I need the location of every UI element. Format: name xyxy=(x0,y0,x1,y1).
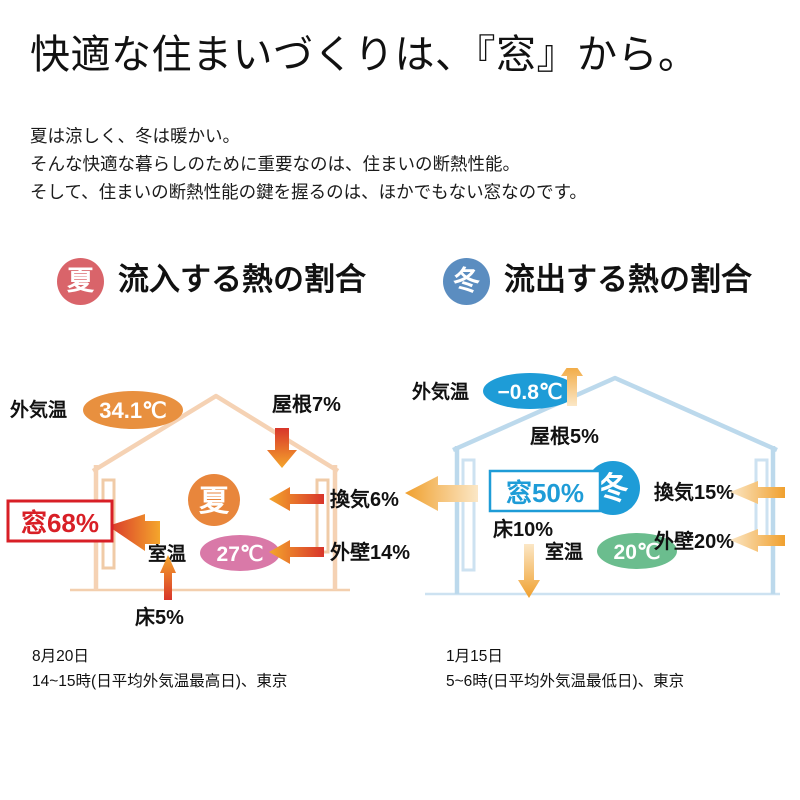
summer-vent-label: 換気6% xyxy=(330,487,399,511)
summer-house-mark: 夏 xyxy=(188,474,240,526)
page-title: 快適な住まいづくりは、『窓』から。 xyxy=(30,22,699,80)
svg-text:−0.8℃: −0.8℃ xyxy=(497,381,562,404)
winter-vent-label: 換気15% xyxy=(654,480,734,504)
svg-text:外気温: 外気温 xyxy=(10,398,67,421)
winter-season-badge: 冬 xyxy=(443,258,490,305)
summer-outside-temp: 外気温 34.1℃ xyxy=(10,391,183,429)
lede-paragraph: 夏は涼しく、冬は暖かい。 そんな快適な暮らしのために重要なのは、住まいの断熱性能… xyxy=(30,122,587,206)
winter-floor-label: 床10% xyxy=(493,517,553,541)
svg-text:冬: 冬 xyxy=(598,471,629,506)
winter-caption: 1月15日 5~6時(日平均外気温最低日)、東京 xyxy=(446,644,684,694)
summer-caption: 8月20日 14~15時(日平均外気温最高日)、東京 xyxy=(32,644,287,694)
winter-caption-line-1: 1月15日 xyxy=(446,644,684,669)
svg-text:窓50%: 窓50% xyxy=(506,478,584,508)
winter-roof-label: 屋根5% xyxy=(530,424,599,448)
summer-floor-label: 床5% xyxy=(135,605,184,629)
summer-heading: 流入する熱の割合 xyxy=(115,263,369,299)
svg-text:室温: 室温 xyxy=(545,540,583,563)
svg-text:27℃: 27℃ xyxy=(217,543,264,566)
summer-house-diagram: 夏 外気温 34.1℃ 室温 27℃ 屋根7% 換気6% 外壁14% 床5% 窓… xyxy=(0,368,420,630)
summer-heading-text: 流入する熱の割合 xyxy=(118,262,366,297)
winter-window-callout: 窓50% xyxy=(490,471,600,511)
winter-caption-line-2: 5~6時(日平均外気温最低日)、東京 xyxy=(446,669,684,694)
lede-line-2: そんな快適な暮らしのために重要なのは、住まいの断熱性能。 xyxy=(30,150,587,178)
lede-line-3: そして、住まいの断熱性能の鍵を握るのは、ほかでもない窓なのです。 xyxy=(30,178,587,206)
winter-heading-text: 流出する熱の割合 xyxy=(504,262,752,297)
svg-text:夏: 夏 xyxy=(199,485,230,518)
summer-season-badge: 夏 xyxy=(57,258,104,305)
svg-text:34.1℃: 34.1℃ xyxy=(99,398,167,423)
winter-section-header: 冬 流出する熱の割合 xyxy=(443,258,755,305)
winter-heading: 流出する熱の割合 xyxy=(501,263,755,299)
winter-vent-arrow xyxy=(730,481,785,504)
winter-wall-arrow xyxy=(730,529,785,552)
winter-house-diagram: 冬 外気温 −0.8℃ 室温 20℃ 屋根5% 窓50% 床10% 換気15% … xyxy=(400,368,800,630)
summer-window-callout: 窓68% xyxy=(8,501,112,541)
lede-line-1: 夏は涼しく、冬は暖かい。 xyxy=(30,122,587,150)
winter-window-arrow xyxy=(405,476,478,511)
summer-roof-arrow xyxy=(267,428,297,468)
winter-outside-temp: 外気温 −0.8℃ xyxy=(412,373,577,409)
summer-section-header: 夏 流入する熱の割合 xyxy=(57,258,369,305)
winter-wall-label: 外壁20% xyxy=(654,529,734,553)
summer-caption-line-1: 8月20日 xyxy=(32,644,287,669)
winter-floor-arrow xyxy=(518,544,540,598)
summer-caption-line-2: 14~15時(日平均外気温最高日)、東京 xyxy=(32,669,287,694)
svg-text:窓68%: 窓68% xyxy=(21,508,99,538)
svg-text:外気温: 外気温 xyxy=(412,380,469,403)
summer-roof-label: 屋根7% xyxy=(272,392,341,416)
summer-wall-label: 外壁14% xyxy=(330,540,410,564)
